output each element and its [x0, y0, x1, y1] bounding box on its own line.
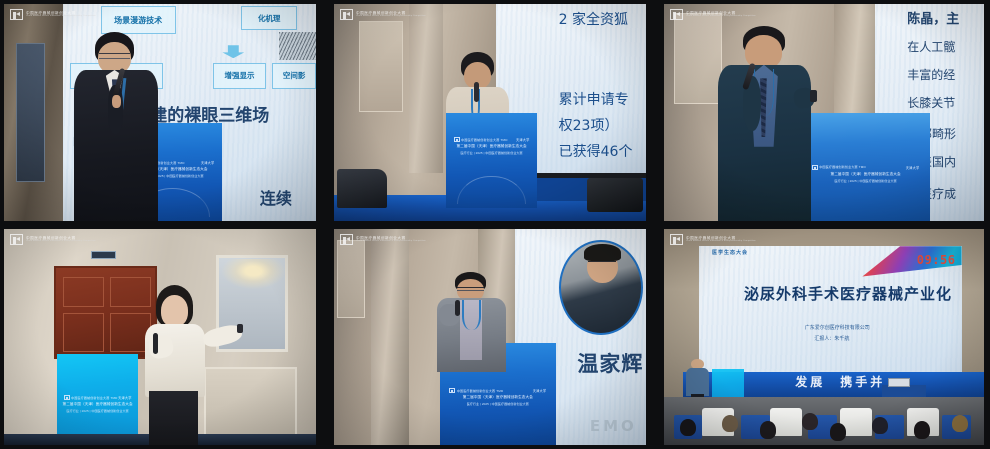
speaker-head	[161, 295, 189, 327]
slide-box-label: 空间影	[283, 70, 306, 81]
podium-4: 中国医疗器械创新创业大赛 TMD 天津大学 第二届中国（天津）医疗器械创新生态大…	[57, 354, 138, 436]
slide-line-1: 陈晶，主	[907, 13, 959, 26]
podium-brand-left: 中国医疗器械创新创业大赛 TMD	[449, 388, 503, 393]
photo-tile-3[interactable]: 陈晶，主 在人工髋 丰富的经 长膝关节 部畸形 表国内 医疗成 中国医疗器械创新…	[660, 0, 990, 225]
podium-logo-row: 中国医疗器械创新创业大赛 TMD 天津大学	[812, 165, 920, 170]
microphone-icon	[153, 333, 159, 354]
chandelier-icon	[222, 259, 284, 289]
slide-line-3: 丰富的经	[907, 69, 955, 81]
audience-head	[914, 421, 930, 438]
slide-box-label: 增强显示	[225, 70, 255, 81]
podium-conference-sub: 医疗行业 | 2025 | 中国医疗器械创新创业大赛	[835, 179, 897, 183]
photo-tile-5[interactable]: 温家辉 EMO 中国医疗器械创新创业大赛 TMD 天津大学 第二届中国（天津）医…	[330, 225, 660, 449]
speaker-person-3	[718, 26, 811, 221]
podium-branding-5: 中国医疗器械创新创业大赛 TMD 天津大学 第二届中国（天津）医疗器械创新生态大…	[449, 388, 546, 406]
pillar-2	[409, 4, 443, 173]
podium-brand-left: 中国医疗器械创新创业大赛 TMD	[454, 137, 508, 142]
stage-monitor-right	[587, 178, 643, 213]
podium-brand-left: 中国医疗器械创新创业大赛 TMD	[64, 395, 118, 400]
speaker-person-4	[141, 285, 222, 445]
photo-tile-6[interactable]: 09:56 泌尿外科手术医疗器械产业化 广东爱尔创医疗科技有限公司 汇报人：朱千…	[660, 225, 990, 449]
audience-head	[722, 415, 738, 432]
podium-brand-right: 天津大学	[201, 160, 215, 165]
slide-line-4: 长膝关节	[907, 97, 955, 109]
slide-box-label: 化机理	[258, 13, 281, 24]
podium-conference-sub: 医疗行业 | 2025 | 中国医疗器械创新创业大赛	[67, 409, 129, 413]
photo-1-canvas: 场景漫游技术 化机理 增强显示 空间影 过重建的裸眼三维场 中 互，打 加 "向…	[4, 4, 316, 221]
podium-brand-right: 天津大学	[118, 395, 132, 400]
door-frame-1	[16, 43, 44, 182]
wall-panel-3	[674, 13, 722, 104]
speaker-logo-icon	[64, 395, 70, 400]
podium-conference-title: 第二届中国（天津）医疗器械创新生态大会	[63, 402, 133, 407]
slide-line-2: 累计申请专	[559, 93, 629, 107]
audience-head	[802, 413, 818, 430]
photo-3-canvas: 陈晶，主 在人工髋 丰富的经 长膝关节 部畸形 表国内 医疗成 中国医疗器械创新…	[664, 4, 984, 221]
laptop-icon	[888, 378, 910, 387]
slide-line-4: 连续	[260, 191, 292, 207]
speaker-logo-icon	[812, 165, 818, 170]
photo-5-canvas: 温家辉 EMO 中国医疗器械创新创业大赛 TMD 天津大学 第二届中国（天津）医…	[334, 229, 646, 445]
podium-2: 中国医疗器械创新创业大赛 TMD 天津大学 第二届中国（天津）医疗器械创新生态大…	[446, 113, 536, 208]
podium-conference-title: 第二届中国（天津）医疗器械创新生态大会	[456, 144, 526, 149]
photo-6-canvas: 09:56 泌尿外科手术医疗器械产业化 广东爱尔创医疗科技有限公司 汇报人：朱千…	[664, 229, 984, 445]
clicker-icon	[237, 324, 243, 334]
slide-box-mechanism: 化机理	[241, 6, 297, 30]
slide-texture-block	[279, 32, 316, 60]
slide-sub1-6: 广东爱尔创医疗科技有限公司	[805, 326, 870, 331]
audience-head	[952, 415, 968, 432]
podium-logo-row: 中国医疗器械创新创业大赛 TMD 天津大学	[64, 395, 132, 400]
podium-branding-3: 中国医疗器械创新创业大赛 TMD 天津大学 第二届中国（天津）医疗器械创新生态大…	[812, 165, 920, 183]
speaker-logo-icon	[454, 137, 460, 142]
slide-line-3: 权23项）	[559, 119, 619, 133]
audience-head	[872, 417, 888, 434]
portrait-glasses-icon	[588, 261, 616, 265]
audience-head	[760, 421, 776, 438]
podium-conference-title: 第二届中国（天津）医疗器械创新生态大会	[831, 172, 901, 177]
slide-brand-text: EMO	[590, 419, 637, 434]
podium-branding-4: 中国医疗器械创新创业大赛 TMD 天津大学 第二届中国（天津）医疗器械创新生态大…	[64, 395, 132, 413]
podium-brand-right: 天津大学	[533, 388, 547, 393]
microphone-icon	[455, 300, 460, 316]
slide-line-1: 2 家全资狐	[559, 13, 628, 27]
photo-2-canvas: 2 家全资狐 累计申请专 权23项） 已获得46个	[334, 4, 646, 221]
podium-conference-sub: 医疗行业 | 2025 | 中国医疗器械创新创业大赛	[460, 151, 522, 155]
speaker-glasses-icon	[457, 287, 484, 291]
stage-monitor-left	[337, 169, 387, 208]
podium-3: 中国医疗器械创新创业大赛 TMD 天津大学 第二届中国（天津）医疗器械创新生态大…	[802, 113, 930, 222]
audience-head	[680, 419, 696, 436]
photo-tile-4[interactable]: 中国医疗器械创新创业大赛 TMD 天津大学 第二届中国（天津）医疗器械创新生态大…	[0, 225, 330, 449]
slide-box-spatial: 空间影	[272, 63, 316, 89]
exit-sign	[91, 251, 116, 260]
speaker-hand	[112, 95, 121, 108]
stage-banner-text: 发展 携手并	[795, 376, 885, 388]
speaker-torso	[686, 368, 708, 396]
podium-arc-decor	[457, 176, 526, 205]
slide-box-scene-roam: 场景漫游技术	[101, 6, 176, 34]
speaker-logo-icon	[449, 388, 455, 393]
slide-title-6: 泌尿外科手术医疗器械产业化	[744, 287, 952, 302]
door-panel-left	[63, 277, 104, 307]
speaker-person-5	[437, 272, 506, 371]
speaker-lanyard	[462, 300, 481, 330]
podium-logo-row: 中国医疗器械创新创业大赛 TMD 天津大学	[454, 137, 530, 142]
audience-head	[830, 423, 846, 440]
podium-conference-title: 第二届中国（天津）医疗器械创新生态大会	[463, 395, 533, 400]
wall-panel-2	[359, 21, 403, 112]
photo-tile-2[interactable]: 2 家全资狐 累计申请专 权23项） 已获得46个	[330, 0, 660, 225]
wall-panel-5	[337, 240, 365, 318]
door-panel-lower-left	[63, 313, 104, 352]
podium-brand-right: 天津大学	[906, 165, 920, 170]
pillar-5-left	[371, 229, 408, 445]
slide-box-enhanced-display: 增强显示	[213, 63, 266, 89]
podium-brand-left: 中国医疗器械创新创业大赛 TMD	[812, 165, 866, 170]
countdown-timer: 09:56	[917, 253, 956, 267]
slide-box-label: 场景漫游技术	[114, 15, 162, 26]
podium-brand-right: 天津大学	[516, 137, 530, 142]
podium-branding-2: 中国医疗器械创新创业大赛 TMD 天津大学 第二届中国（天津）医疗器械创新生态大…	[454, 137, 530, 155]
slide-line-4: 已获得46个	[559, 145, 633, 159]
slide-brand-6: 医学生态大会	[712, 251, 748, 256]
slide-sub2-6: 汇报人：朱千航	[814, 337, 849, 342]
podium-logo-row: 中国医疗器械创新创业大赛 TMD 天津大学	[449, 388, 546, 393]
photo-4-canvas: 中国医疗器械创新创业大赛 TMD 天津大学 第二届中国（天津）医疗器械创新生态大…	[4, 229, 316, 445]
clicker-icon	[810, 90, 816, 102]
photo-grid: 场景漫游技术 化机理 增强显示 空间影 过重建的裸眼三维场 中 互，打 加 "向…	[0, 0, 990, 449]
microphone-icon	[474, 82, 479, 102]
slide-line-2: 在人工髋	[907, 41, 955, 53]
podium-conference-sub: 医疗行业 | 2025 | 中国医疗器械创新创业大赛	[467, 402, 529, 406]
speaker-skirt	[149, 391, 198, 445]
speaker-glasses-icon	[99, 53, 130, 59]
photo-tile-1[interactable]: 场景漫游技术 化机理 增强显示 空间影 过重建的裸眼三维场 中 互，打 加 "向…	[0, 0, 330, 225]
portrait-hair	[584, 244, 621, 261]
speaker-person-1	[73, 32, 160, 221]
speaker-name-label: 温家辉	[577, 354, 643, 375]
